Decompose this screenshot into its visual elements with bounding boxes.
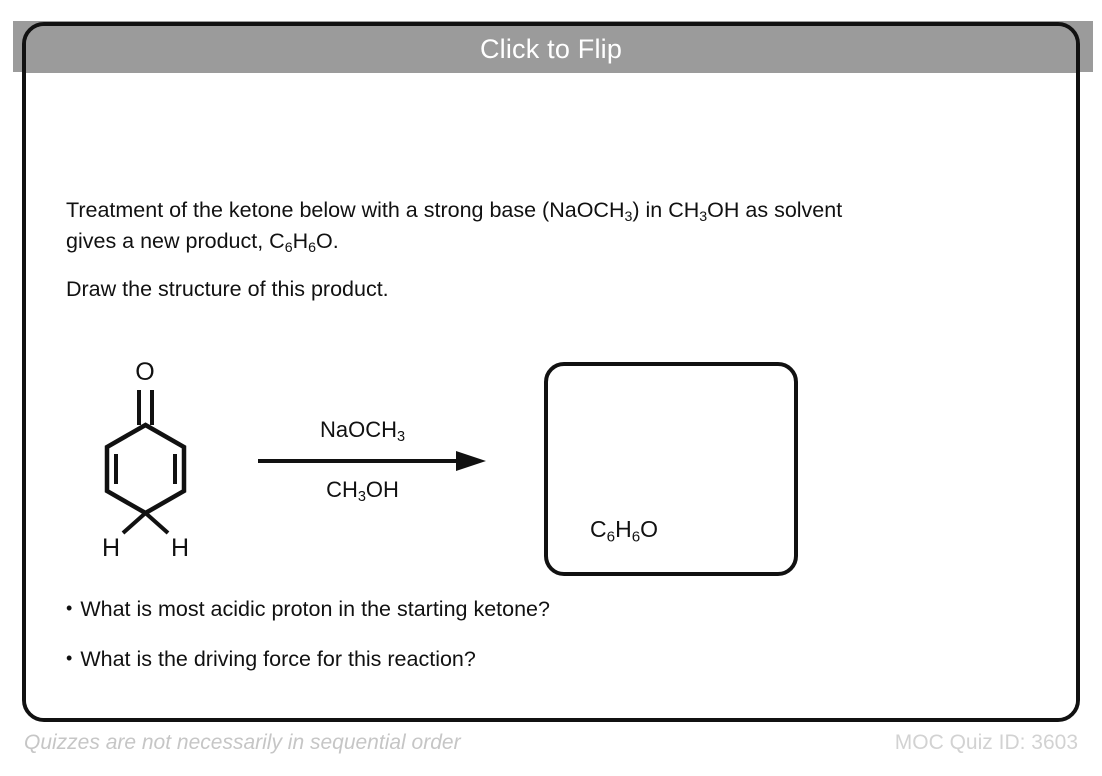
prompt-line2-text-b: H [293, 229, 309, 253]
list-item: •What is most acidic proton in the start… [66, 596, 966, 624]
prompt-text-c: OH as solvent [707, 198, 842, 222]
bullet-text: What is most acidic proton in the starti… [80, 597, 550, 621]
reagent-below-subscript: 3 [358, 489, 366, 505]
prompt-line-1: Treatment of the ketone below with a str… [66, 196, 1041, 227]
product-formula-subscript-b: 6 [632, 528, 640, 545]
ring-hexagon [107, 425, 184, 513]
reagent-above-subscript: 3 [397, 429, 405, 445]
prompt-line2-text-a: gives a new product, C [66, 229, 285, 253]
product-formula-text-c: O [640, 516, 658, 542]
card-body: Treatment of the ketone below with a str… [26, 73, 1076, 718]
quiz-card-page: Click to Flip Treatment of the ketone be… [0, 0, 1102, 776]
ch-bond-right [146, 513, 169, 533]
reaction-arrow-icon [256, 450, 491, 472]
card-header-bar[interactable]: Click to Flip [26, 26, 1076, 73]
quiz-card[interactable]: Click to Flip Treatment of the ketone be… [22, 22, 1080, 722]
prompt-text-a: Treatment of the ketone below with a str… [66, 198, 624, 222]
product-formula-subscript-a: 6 [607, 528, 615, 545]
bullet-text: What is the driving force for this react… [80, 647, 476, 671]
bullet-marker-icon: • [66, 598, 72, 618]
footer: Quizzes are not necessarily in sequentia… [24, 731, 1078, 755]
prompt-text-b: ) in CH [632, 198, 699, 222]
draw-structure-instruction: Draw the structure of this product. [66, 277, 389, 302]
question-prompt: Treatment of the ketone below with a str… [66, 196, 1041, 259]
cyclohexadienone-structure: O H H [76, 353, 246, 558]
footer-note: Quizzes are not necessarily in sequentia… [24, 731, 461, 755]
prompt-line2-subscript-b: 6 [308, 240, 316, 256]
reaction-arrow-block: NaOCH3 CH3OH [256, 416, 491, 506]
quiz-id-label: MOC Quiz ID: 3603 [895, 731, 1078, 755]
followup-question-list: •What is most acidic proton in the start… [66, 596, 966, 696]
reagent-above-arrow: NaOCH3 [256, 416, 491, 446]
prompt-line2-text-c: O. [316, 229, 339, 253]
answer-drawing-box[interactable]: C6H6O [544, 362, 798, 576]
bullet-marker-icon: • [66, 648, 72, 668]
reaction-scheme: O H H NaOCH3 [26, 323, 1076, 583]
ch-bond-left [123, 513, 146, 533]
list-item: •What is the driving force for this reac… [66, 646, 966, 674]
reagent-above-text: NaOCH [320, 417, 397, 442]
hydrogen-label-left: H [102, 534, 120, 558]
product-formula-text-b: H [615, 516, 632, 542]
hydrogen-label-right: H [171, 534, 189, 558]
product-formula-label: C6H6O [590, 516, 658, 545]
reagent-below-text-a: CH [326, 477, 358, 502]
reagent-below-text-b: OH [366, 477, 399, 502]
prompt-subscript-b: 3 [699, 209, 707, 225]
reagent-below-arrow: CH3OH [256, 476, 491, 506]
prompt-line-2: gives a new product, C6H6O. [66, 227, 1041, 258]
prompt-line2-subscript-a: 6 [285, 240, 293, 256]
click-to-flip-label: Click to Flip [480, 36, 622, 63]
oxygen-label: O [135, 358, 154, 386]
product-formula-text-a: C [590, 516, 607, 542]
